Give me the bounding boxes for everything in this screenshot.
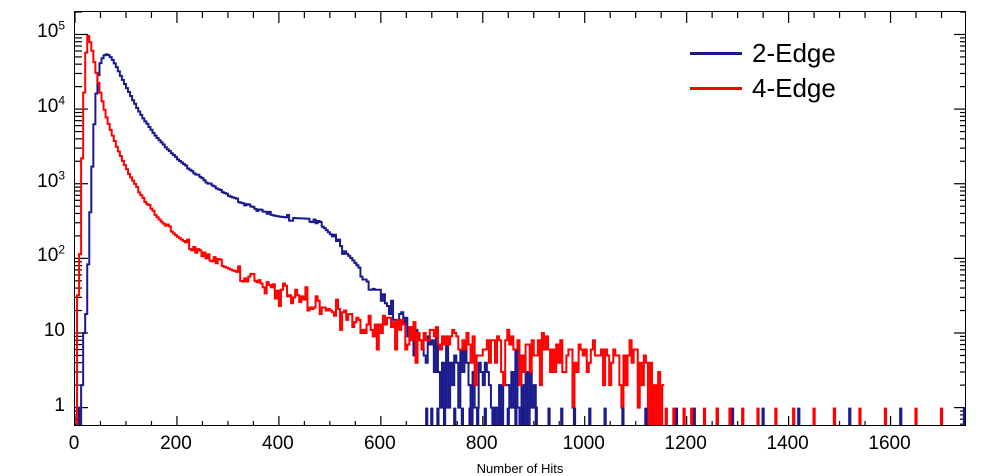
legend-label-2-edge: 2-Edge: [752, 38, 836, 68]
series-line-4-edge: [75, 36, 664, 425]
x-tick-label-2: 400: [238, 434, 318, 453]
x-tick-label-3: 600: [340, 434, 420, 453]
y-tick-label-3: 103: [0, 172, 65, 191]
x-tick-label-8: 1600: [850, 434, 930, 453]
y-tick-label-1: 10: [0, 321, 65, 340]
y-tick-label-0: 1: [0, 396, 65, 415]
y-tick-exponent: 4: [58, 94, 65, 108]
legend-label-4-edge: 4-Edge: [752, 73, 836, 103]
y-tick-label-4: 104: [0, 97, 65, 116]
y-tick-label-5: 105: [0, 22, 65, 41]
legend-swatch-4-edge: [690, 87, 742, 90]
x-tick-label-4: 800: [442, 434, 522, 453]
series-line-2-edge: [75, 54, 538, 425]
x-axis-title: Number of Hits: [400, 462, 640, 475]
x-tick-label-1: 200: [136, 434, 216, 453]
y-tick-exponent: 3: [58, 168, 65, 182]
x-tick-label-7: 1400: [748, 434, 828, 453]
y-tick-base: 10: [37, 96, 58, 117]
y-tick-base: 10: [37, 245, 58, 266]
y-tick-base: 10: [37, 21, 58, 42]
legend-entry-2-edge: 2-Edge: [690, 36, 900, 71]
x-tick-label-5: 1000: [544, 434, 624, 453]
legend-entry-4-edge: 4-Edge: [690, 71, 900, 106]
y-tick-exponent: 5: [58, 19, 65, 33]
x-tick-label-0: 0: [34, 434, 114, 453]
y-tick-label-2: 102: [0, 246, 65, 265]
legend-swatch-2-edge: [690, 52, 742, 55]
y-tick-exponent: 2: [58, 243, 65, 257]
chart-canvas: 110102103104105 020040060080010001200140…: [0, 0, 996, 472]
x-tick-label-6: 1200: [646, 434, 726, 453]
y-tick-base: 10: [37, 171, 58, 192]
legend: 2-Edge 4-Edge: [690, 36, 900, 106]
